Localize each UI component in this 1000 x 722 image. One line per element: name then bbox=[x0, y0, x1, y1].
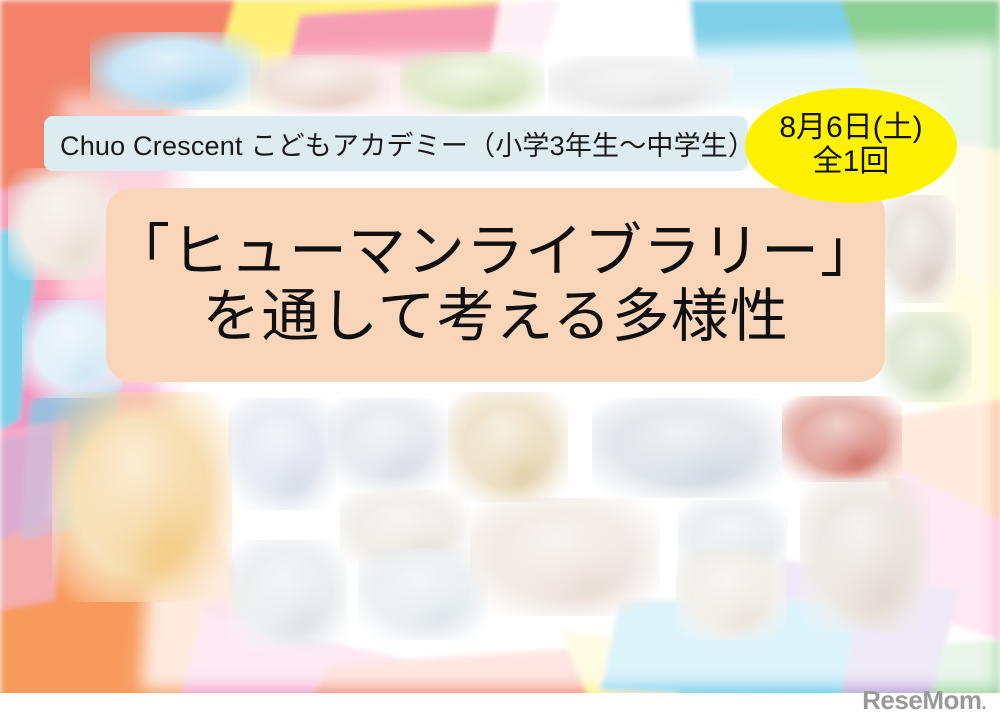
poster-canvas: Chuo Crescent こどもアカデミー（小学3年生〜中学生） 8月6日(土… bbox=[0, 0, 1000, 722]
date-badge: 8月6日(土) 全1回 bbox=[745, 88, 957, 203]
watermark-text: ReseMom bbox=[862, 685, 981, 715]
photo-woman-in-blazer-smiling bbox=[800, 478, 930, 633]
date-badge-line1: 8月6日(土) bbox=[779, 113, 922, 144]
photo-father-and-child-outdoor bbox=[400, 52, 545, 114]
watermark-suffix: . bbox=[981, 693, 986, 713]
photo-two-women-hijab bbox=[228, 398, 336, 510]
photo-five-laughing-children bbox=[548, 56, 733, 114]
subtitle-text: Chuo Crescent こどもアカデミー（小学3年生〜中学生） bbox=[60, 124, 755, 163]
photo-girl-and-elder-portrait bbox=[250, 55, 390, 113]
photo-toddler-arms-up bbox=[676, 548, 786, 640]
date-badge-line2: 全1回 bbox=[813, 147, 890, 178]
photo-children-lineup bbox=[358, 548, 488, 640]
title-panel: 「ヒューマンライブラリー」 を通して考える多様性 bbox=[106, 188, 885, 382]
photo-diverse-adults-standing bbox=[592, 398, 782, 498]
subtitle-badge: Chuo Crescent こどもアカデミー（小学3年生〜中学生） bbox=[44, 116, 748, 171]
photo-indian-couple-traditional bbox=[448, 392, 568, 502]
photo-person-rainbow-flag bbox=[52, 392, 232, 602]
photo-running-child-sky bbox=[90, 32, 260, 110]
photo-girl-lying-on-grass bbox=[782, 396, 902, 482]
photo-woman-curly-hair-smiling bbox=[878, 195, 956, 303]
bottom-white-band bbox=[0, 693, 1000, 722]
title-line-2: を通して考える多様性 bbox=[202, 285, 789, 350]
photo-group-of-young-friends bbox=[328, 398, 448, 490]
resemom-watermark: ReseMom. bbox=[862, 685, 986, 716]
photo-girl-in-kitchen bbox=[470, 498, 660, 616]
photo-man-in-wheelchair bbox=[228, 540, 348, 650]
title-line-1: 「ヒューマンライブラリー」 bbox=[112, 220, 879, 285]
photo-two-boys-playing bbox=[880, 312, 972, 402]
photo-father-lifting-daughter bbox=[8, 168, 118, 280]
